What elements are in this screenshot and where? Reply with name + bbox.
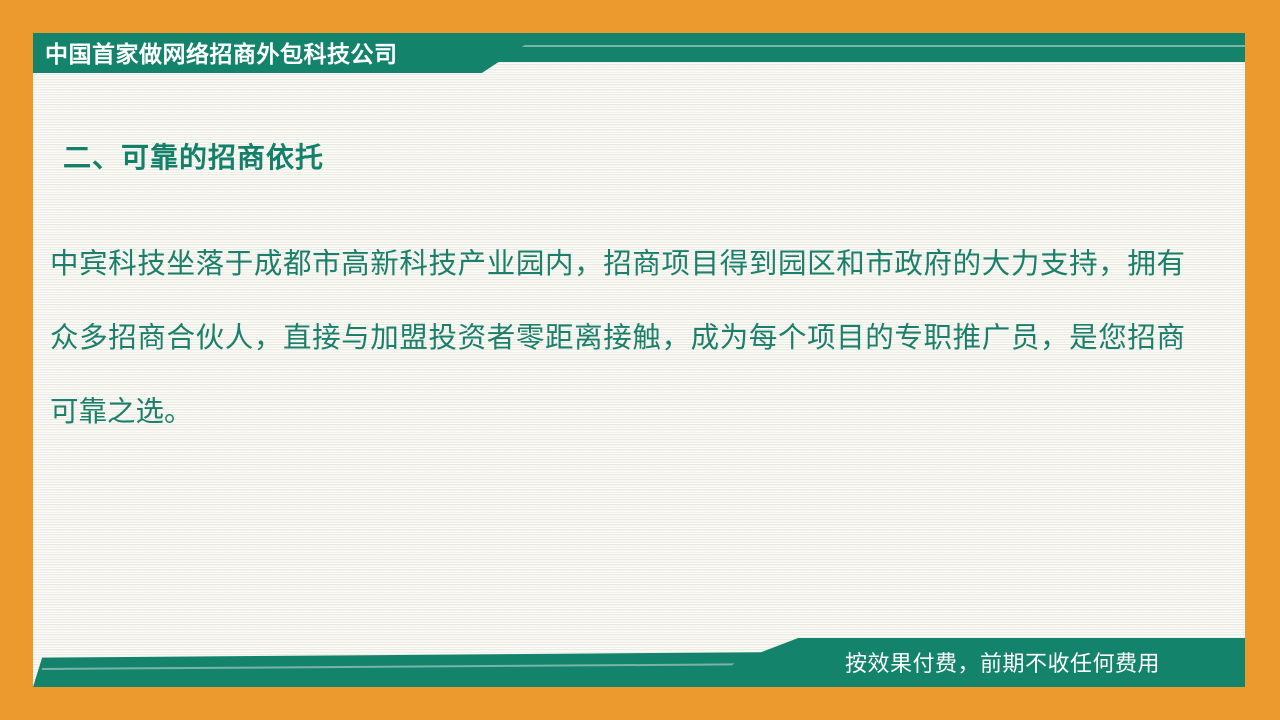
footer-slogan: 按效果付费，前期不收任何费用 [845,648,1160,680]
header-highlight-rule [517,45,1245,47]
header-title: 中国首家做网络招商外包科技公司 [45,38,515,70]
body-paragraph: 中宾科技坐落于成都市高新科技产业园内，招商项目得到园区和市政府的大力支持，拥有众… [50,228,1185,450]
footer-left-bar [33,652,793,687]
slide-root: 中国首家做网络招商外包科技公司 二、可靠的招商依托 中宾科技坐落于成都市高新科技… [0,0,1280,720]
section-heading: 二、可靠的招商依托 [63,136,324,176]
